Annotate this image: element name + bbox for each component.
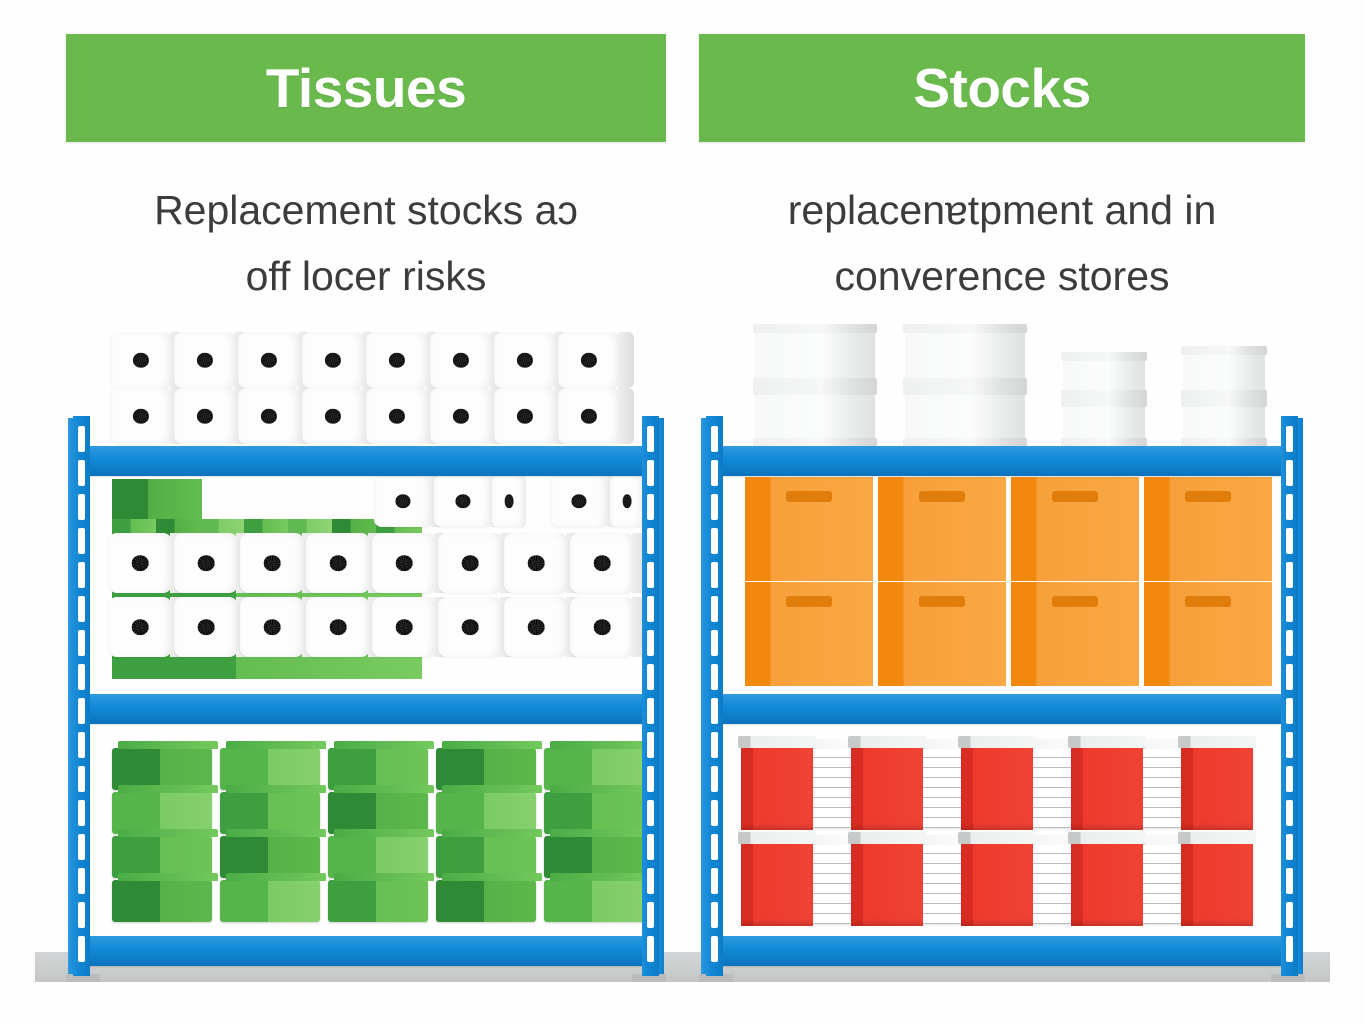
green-box-front bbox=[328, 880, 428, 922]
post-slot bbox=[711, 766, 718, 792]
orange-box-handle bbox=[1185, 491, 1231, 502]
green-box-top bbox=[442, 741, 542, 749]
green-box-top bbox=[442, 829, 542, 837]
orange-box bbox=[745, 582, 873, 686]
red-box bbox=[961, 842, 1033, 926]
post-slot bbox=[647, 902, 654, 928]
rack-post-left bbox=[73, 416, 90, 976]
white-storage-box bbox=[755, 386, 875, 446]
white-box-rim bbox=[1061, 390, 1147, 399]
green-box-front bbox=[436, 836, 536, 878]
post-slot bbox=[78, 834, 85, 860]
toilet-roll bbox=[174, 533, 238, 593]
green-box bbox=[544, 836, 644, 878]
rack-beam-bottom bbox=[709, 936, 1295, 966]
red-box bbox=[1071, 842, 1143, 926]
orange-box-handle bbox=[1185, 596, 1231, 607]
post-slot bbox=[78, 494, 85, 520]
post-slot bbox=[1286, 936, 1293, 962]
white-box-rim bbox=[753, 386, 877, 395]
green-box-front bbox=[328, 748, 428, 790]
red-box-lid bbox=[738, 736, 816, 748]
shelf-bottom-tissues-contents bbox=[100, 724, 632, 936]
shelf-top-stocks-contents bbox=[733, 326, 1271, 446]
green-box-front bbox=[436, 792, 536, 834]
red-box-lid bbox=[848, 736, 926, 748]
post-slot bbox=[1286, 766, 1293, 792]
red-box bbox=[1181, 746, 1253, 830]
post-slot bbox=[711, 630, 718, 656]
panel-stocks: Stocks replacenɐtpment and in converence… bbox=[683, 0, 1365, 1024]
post-slot bbox=[1286, 562, 1293, 588]
subtitle-tissues: Replacement stocks aɔ off locer risks bbox=[66, 178, 666, 309]
post-slot bbox=[647, 800, 654, 826]
post-slot bbox=[647, 426, 654, 452]
shelf-top-tissues-contents bbox=[100, 326, 632, 446]
toilet-roll bbox=[174, 332, 236, 388]
green-box bbox=[436, 880, 536, 922]
toilet-roll bbox=[492, 475, 526, 527]
toilet-roll bbox=[240, 533, 304, 593]
orange-box-handle bbox=[786, 596, 832, 607]
paper-sheets bbox=[921, 748, 965, 828]
red-box bbox=[961, 746, 1033, 830]
green-box-front bbox=[544, 792, 644, 834]
toilet-roll bbox=[550, 475, 608, 527]
subtitle-stocks: replacenɐtpment and in converence stores bbox=[699, 178, 1305, 309]
paper-stack bbox=[811, 844, 855, 924]
red-box-lid bbox=[958, 832, 1036, 844]
post-slot bbox=[647, 732, 654, 758]
toilet-roll bbox=[558, 388, 620, 444]
green-box-front bbox=[436, 748, 536, 790]
toilet-roll bbox=[108, 597, 172, 657]
green-box-front bbox=[112, 748, 212, 790]
orange-box bbox=[1144, 477, 1272, 581]
post-slot bbox=[78, 562, 85, 588]
post-slot bbox=[711, 426, 718, 452]
green-box bbox=[328, 836, 428, 878]
red-box bbox=[741, 842, 813, 926]
orange-box bbox=[1011, 582, 1139, 686]
toilet-roll bbox=[174, 597, 238, 657]
post-slot bbox=[647, 528, 654, 554]
post-slot bbox=[711, 868, 718, 894]
green-box-top bbox=[442, 873, 542, 881]
post-slot bbox=[711, 596, 718, 622]
red-box-front bbox=[961, 842, 1033, 926]
toilet-roll bbox=[494, 332, 556, 388]
red-box bbox=[1071, 746, 1143, 830]
white-box-body bbox=[905, 324, 1025, 386]
toilet-roll bbox=[366, 332, 428, 388]
header-title-stocks: Stocks bbox=[913, 61, 1090, 116]
toilet-roll bbox=[110, 388, 172, 444]
green-box-front bbox=[220, 836, 320, 878]
green-box-front bbox=[544, 880, 644, 922]
green-box-top bbox=[226, 873, 326, 881]
white-box-body bbox=[905, 386, 1025, 446]
post-slot bbox=[647, 494, 654, 520]
green-box bbox=[220, 836, 320, 878]
green-box-front bbox=[220, 792, 320, 834]
red-box bbox=[851, 842, 923, 926]
orange-box-handle bbox=[1052, 596, 1098, 607]
white-storage-box bbox=[1183, 346, 1265, 398]
paper-stack bbox=[921, 844, 965, 924]
post-slot bbox=[1286, 800, 1293, 826]
white-box-rim bbox=[903, 386, 1027, 395]
green-box-top bbox=[334, 873, 434, 881]
paper-sheets bbox=[811, 844, 855, 924]
red-box bbox=[851, 746, 923, 830]
post-slot bbox=[647, 664, 654, 690]
post-slot bbox=[78, 698, 85, 724]
green-box bbox=[220, 880, 320, 922]
white-box-rim bbox=[753, 324, 877, 333]
post-slot bbox=[78, 868, 85, 894]
white-box-rim bbox=[903, 324, 1027, 333]
white-storage-box bbox=[1063, 352, 1145, 398]
post-slot bbox=[1286, 630, 1293, 656]
header-title-tissues: Tissues bbox=[266, 61, 466, 116]
panel-tissues: Tissues Replacement stocks aɔ off locer … bbox=[0, 0, 683, 1024]
toilet-roll bbox=[430, 388, 492, 444]
rack-beam-middle bbox=[709, 694, 1295, 724]
red-box-lid bbox=[1178, 832, 1256, 844]
toilet-roll bbox=[372, 597, 436, 657]
green-box bbox=[436, 836, 536, 878]
white-storage-box bbox=[905, 386, 1025, 446]
post-slot bbox=[647, 834, 654, 860]
green-box-front bbox=[544, 748, 644, 790]
green-box-top bbox=[334, 785, 434, 793]
rack-beam-top bbox=[709, 446, 1295, 476]
toilet-roll bbox=[238, 332, 300, 388]
green-box bbox=[328, 792, 428, 834]
white-box-body bbox=[755, 324, 875, 386]
toilet-roll bbox=[430, 332, 492, 388]
post-slot bbox=[1286, 902, 1293, 928]
paper-sheets bbox=[1141, 844, 1185, 924]
green-box bbox=[544, 792, 644, 834]
post-slot bbox=[1286, 494, 1293, 520]
green-box-top bbox=[334, 741, 434, 749]
white-box-rim bbox=[1181, 390, 1267, 399]
rack-post-left bbox=[706, 416, 723, 976]
post-slot bbox=[711, 494, 718, 520]
green-box bbox=[544, 880, 644, 922]
post-slot bbox=[711, 698, 718, 724]
rack-tissues bbox=[66, 416, 666, 976]
paper-sheets bbox=[1031, 844, 1075, 924]
paper-stack bbox=[921, 748, 965, 828]
white-storage-box bbox=[1063, 398, 1145, 446]
post-slot bbox=[711, 936, 718, 962]
white-box-body bbox=[755, 386, 875, 446]
post-slot bbox=[647, 630, 654, 656]
white-box-rim bbox=[1061, 352, 1147, 361]
post-slot bbox=[1286, 698, 1293, 724]
toilet-roll bbox=[438, 597, 502, 657]
post-slot bbox=[711, 562, 718, 588]
paper-stack bbox=[1141, 748, 1185, 828]
toilet-roll bbox=[570, 533, 634, 593]
green-box bbox=[112, 748, 212, 790]
post-slot bbox=[647, 562, 654, 588]
orange-box bbox=[1011, 477, 1139, 581]
green-box-top bbox=[118, 829, 218, 837]
red-box bbox=[741, 746, 813, 830]
green-box bbox=[112, 880, 212, 922]
red-box-lid bbox=[1068, 832, 1146, 844]
green-box-front bbox=[220, 880, 320, 922]
green-box-front bbox=[112, 880, 212, 922]
toilet-roll bbox=[306, 597, 370, 657]
red-box-front bbox=[741, 746, 813, 830]
post-slot bbox=[711, 902, 718, 928]
green-box bbox=[436, 748, 536, 790]
toilet-roll bbox=[504, 597, 568, 657]
green-box-top bbox=[118, 785, 218, 793]
white-box-rim bbox=[753, 378, 877, 387]
post-slot bbox=[711, 460, 718, 486]
toilet-roll bbox=[302, 388, 364, 444]
post-slot bbox=[78, 800, 85, 826]
toilet-roll bbox=[504, 533, 568, 593]
rack-beam-top bbox=[76, 446, 656, 476]
green-box-front bbox=[544, 836, 644, 878]
white-box-rim bbox=[1181, 346, 1267, 355]
shelf-bottom-stocks-contents bbox=[733, 724, 1271, 936]
red-box-lid bbox=[738, 832, 816, 844]
red-box bbox=[1181, 842, 1253, 926]
header-bar-stocks: Stocks bbox=[699, 34, 1305, 142]
green-box-front bbox=[436, 880, 536, 922]
toilet-roll bbox=[108, 533, 172, 593]
green-box bbox=[220, 792, 320, 834]
green-box-top bbox=[226, 785, 326, 793]
toilet-roll bbox=[240, 597, 304, 657]
red-box-front bbox=[1071, 842, 1143, 926]
red-box-front bbox=[1181, 842, 1253, 926]
green-box bbox=[328, 748, 428, 790]
post-slot bbox=[1286, 596, 1293, 622]
green-box bbox=[544, 748, 644, 790]
green-box-top bbox=[118, 741, 218, 749]
rack-post-right bbox=[1281, 416, 1298, 976]
paper-sheets bbox=[811, 748, 855, 828]
red-box-front bbox=[741, 842, 813, 926]
shelf-middle-tissues-contents bbox=[100, 461, 632, 694]
post-slot bbox=[1286, 426, 1293, 452]
paper-sheets bbox=[921, 844, 965, 924]
red-box-front bbox=[851, 746, 923, 830]
post-slot bbox=[711, 528, 718, 554]
toilet-roll bbox=[238, 388, 300, 444]
orange-box-handle bbox=[786, 491, 832, 502]
green-box-front bbox=[112, 792, 212, 834]
green-back-box bbox=[112, 479, 202, 521]
red-box-lid bbox=[848, 832, 926, 844]
poster-canvas: Tissues Replacement stocks aɔ off locer … bbox=[0, 0, 1365, 1024]
red-box-lid bbox=[1178, 736, 1256, 748]
paper-stack bbox=[1141, 844, 1185, 924]
post-slot bbox=[78, 902, 85, 928]
orange-box bbox=[878, 477, 1006, 581]
green-box-front bbox=[328, 792, 428, 834]
white-storage-box bbox=[905, 324, 1025, 386]
toilet-roll bbox=[374, 475, 432, 527]
paper-stack bbox=[1031, 844, 1075, 924]
post-slot bbox=[647, 868, 654, 894]
post-slot bbox=[78, 732, 85, 758]
header-bar-tissues: Tissues bbox=[66, 34, 666, 142]
post-slot bbox=[78, 936, 85, 962]
toilet-roll bbox=[110, 332, 172, 388]
white-box-rim bbox=[1181, 398, 1267, 407]
post-slot bbox=[78, 664, 85, 690]
green-box bbox=[220, 748, 320, 790]
orange-box bbox=[745, 477, 873, 581]
green-box-front bbox=[328, 836, 428, 878]
green-box bbox=[112, 792, 212, 834]
post-slot bbox=[78, 630, 85, 656]
post-slot bbox=[78, 766, 85, 792]
toilet-roll bbox=[494, 388, 556, 444]
post-slot bbox=[78, 460, 85, 486]
post-slot bbox=[711, 732, 718, 758]
post-slot bbox=[78, 596, 85, 622]
toilet-roll bbox=[366, 388, 428, 444]
orange-box bbox=[1144, 582, 1272, 686]
white-box-rim bbox=[1061, 398, 1147, 407]
red-box-front bbox=[1071, 746, 1143, 830]
red-box-front bbox=[961, 746, 1033, 830]
green-box-top bbox=[334, 829, 434, 837]
post-slot bbox=[711, 664, 718, 690]
post-slot bbox=[1286, 528, 1293, 554]
rack-stocks bbox=[699, 416, 1305, 976]
post-slot bbox=[1286, 834, 1293, 860]
green-box-top bbox=[226, 741, 326, 749]
orange-box bbox=[878, 582, 1006, 686]
toilet-roll bbox=[438, 533, 502, 593]
red-box-lid bbox=[1068, 736, 1146, 748]
toilet-roll bbox=[302, 332, 364, 388]
toilet-roll bbox=[174, 388, 236, 444]
orange-box-handle bbox=[919, 596, 965, 607]
post-slot bbox=[1286, 664, 1293, 690]
post-slot bbox=[711, 800, 718, 826]
paper-sheets bbox=[1141, 748, 1185, 828]
post-slot bbox=[647, 766, 654, 792]
post-slot bbox=[647, 936, 654, 962]
post-slot bbox=[1286, 868, 1293, 894]
white-storage-box bbox=[1183, 398, 1265, 446]
shelf-middle-stocks-contents bbox=[733, 461, 1271, 694]
green-box-top bbox=[118, 873, 218, 881]
red-box-lid bbox=[958, 736, 1036, 748]
orange-box-handle bbox=[1052, 491, 1098, 502]
roll-side-face bbox=[618, 332, 634, 388]
green-box-top bbox=[226, 829, 326, 837]
rack-beam-middle bbox=[76, 694, 656, 724]
paper-stack bbox=[1031, 748, 1075, 828]
green-box bbox=[436, 792, 536, 834]
green-box bbox=[328, 880, 428, 922]
red-box-front bbox=[1181, 746, 1253, 830]
post-slot bbox=[711, 834, 718, 860]
post-slot bbox=[647, 596, 654, 622]
rack-post-right bbox=[642, 416, 659, 976]
toilet-roll bbox=[570, 597, 634, 657]
green-box bbox=[112, 836, 212, 878]
white-storage-box bbox=[755, 324, 875, 386]
toilet-roll bbox=[306, 533, 370, 593]
post-slot bbox=[1286, 460, 1293, 486]
rack-beam-bottom bbox=[76, 936, 656, 966]
green-box-front bbox=[220, 748, 320, 790]
toilet-roll bbox=[434, 475, 492, 527]
paper-sheets bbox=[1031, 748, 1075, 828]
post-slot bbox=[647, 698, 654, 724]
red-box-front bbox=[851, 842, 923, 926]
post-slot bbox=[78, 528, 85, 554]
toilet-roll bbox=[372, 533, 436, 593]
paper-stack bbox=[811, 748, 855, 828]
green-box-top bbox=[442, 785, 542, 793]
toilet-roll bbox=[558, 332, 620, 388]
post-slot bbox=[1286, 732, 1293, 758]
green-box-front bbox=[112, 836, 212, 878]
white-box-rim bbox=[903, 378, 1027, 387]
orange-box-handle bbox=[919, 491, 965, 502]
post-slot bbox=[78, 426, 85, 452]
post-slot bbox=[647, 460, 654, 486]
